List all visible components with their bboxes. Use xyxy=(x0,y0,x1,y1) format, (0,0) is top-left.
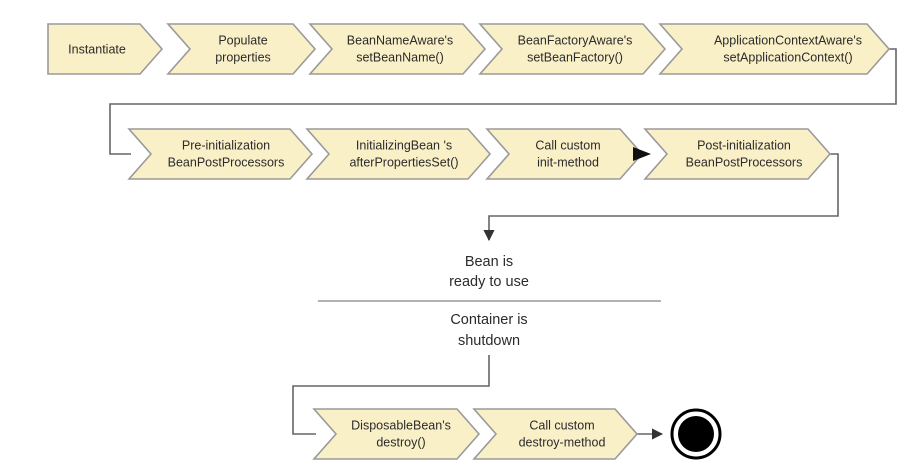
step-application-context-aware[interactable]: ApplicationContextAware's setApplication… xyxy=(660,24,889,74)
step-populate-properties-shape xyxy=(168,24,315,74)
step-disposable-bean-shape xyxy=(314,409,479,459)
step-post-initialization-bpp-shape xyxy=(645,129,830,179)
state-bean-ready-line2: ready to use xyxy=(449,274,529,290)
step-disposable-bean[interactable]: DisposableBean's destroy() xyxy=(314,409,479,459)
final-node xyxy=(672,410,720,458)
step-post-initialization-bpp[interactable]: Post-initialization BeanPostProcessors xyxy=(645,129,830,179)
step-populate-properties[interactable]: Populate properties xyxy=(168,24,315,74)
bean-lifecycle-diagram: Instantiate Populate properties BeanName… xyxy=(0,0,917,474)
step-pre-initialization-bpp-label-line1: Pre-initialization xyxy=(182,138,270,152)
step-application-context-aware-shape xyxy=(660,24,889,74)
step-custom-destroy-method[interactable]: Call custom destroy-method xyxy=(474,409,637,459)
step-initializing-bean-label-line1: InitializingBean 's xyxy=(356,138,452,152)
row-initialization-phase: Pre-initialization BeanPostProcessors In… xyxy=(129,129,830,179)
step-disposable-bean-label-line1: DisposableBean's xyxy=(351,418,451,432)
step-populate-properties-label-line2: properties xyxy=(215,50,271,64)
step-custom-init-method-label-line2: init-method xyxy=(537,155,599,169)
step-custom-init-method[interactable]: Call custom init-method xyxy=(487,129,642,179)
step-custom-destroy-method-label-line1: Call custom xyxy=(529,418,594,432)
step-bean-name-aware-shape xyxy=(310,24,485,74)
step-custom-init-method-shape xyxy=(487,129,642,179)
step-populate-properties-label-line1: Populate xyxy=(218,33,267,47)
step-pre-initialization-bpp[interactable]: Pre-initialization BeanPostProcessors xyxy=(129,129,312,179)
diagram-canvas: Instantiate Populate properties BeanName… xyxy=(0,0,917,474)
row-creation-phase: Instantiate Populate properties BeanName… xyxy=(48,24,889,74)
step-bean-factory-aware[interactable]: BeanFactoryAware's setBeanFactory() xyxy=(480,24,665,74)
step-pre-initialization-bpp-label-line2: BeanPostProcessors xyxy=(168,155,285,169)
step-custom-destroy-method-label-line2: destroy-method xyxy=(519,435,606,449)
state-container-shutdown: Container is shutdown xyxy=(450,312,527,349)
step-application-context-aware-label-line2: setApplicationContext() xyxy=(723,50,852,64)
step-initializing-bean-label-line2: afterPropertiesSet() xyxy=(349,155,458,169)
step-custom-destroy-method-shape xyxy=(474,409,637,459)
step-application-context-aware-label-line1: ApplicationContextAware's xyxy=(714,33,862,47)
step-custom-init-method-label-line1: Call custom xyxy=(535,138,600,152)
step-bean-factory-aware-label-line1: BeanFactoryAware's xyxy=(518,33,633,47)
state-container-shutdown-line2: shutdown xyxy=(458,333,520,349)
state-container-shutdown-line1: Container is xyxy=(450,312,527,328)
step-disposable-bean-label-line2: destroy() xyxy=(376,435,425,449)
step-bean-name-aware-label-line1: BeanNameAware's xyxy=(347,33,453,47)
row-destruction-phase: DisposableBean's destroy() Call custom d… xyxy=(314,409,637,459)
step-post-initialization-bpp-label-line1: Post-initialization xyxy=(697,138,791,152)
step-initializing-bean-shape xyxy=(307,129,490,179)
final-node-inner-disc xyxy=(678,416,714,452)
step-post-initialization-bpp-label-line2: BeanPostProcessors xyxy=(686,155,803,169)
step-pre-initialization-bpp-shape xyxy=(129,129,312,179)
step-instantiate-label: Instantiate xyxy=(68,42,126,56)
step-initializing-bean[interactable]: InitializingBean 's afterPropertiesSet() xyxy=(307,129,490,179)
connectors xyxy=(110,49,896,434)
arrowhead-init-to-postinit xyxy=(633,147,651,161)
state-bean-ready-line1: Bean is xyxy=(465,254,513,270)
state-bean-ready: Bean is ready to use xyxy=(449,254,529,290)
step-bean-name-aware-label-line2: setBeanName() xyxy=(356,50,444,64)
step-bean-factory-aware-shape xyxy=(480,24,665,74)
step-bean-factory-aware-label-line2: setBeanFactory() xyxy=(527,50,623,64)
step-instantiate[interactable]: Instantiate xyxy=(48,24,162,74)
step-bean-name-aware[interactable]: BeanNameAware's setBeanName() xyxy=(310,24,485,74)
